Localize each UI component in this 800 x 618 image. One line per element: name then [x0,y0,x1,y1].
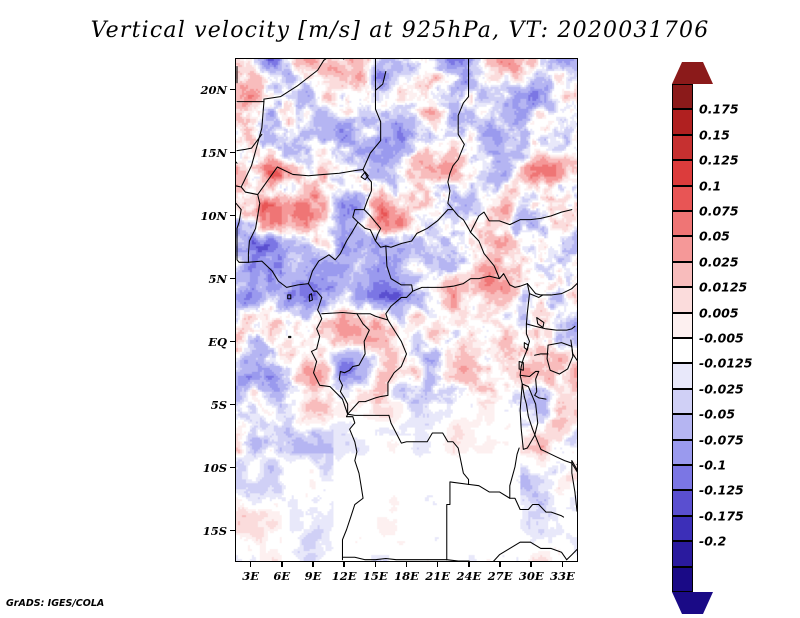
colorbar-segment-9 [672,313,693,338]
lat-tick-mark [230,278,235,280]
colorbar-segment-5 [672,211,693,236]
lat-tick-label-5N: 5N [197,272,227,286]
colorbar-segment-0 [672,84,693,109]
lat-tick-label-20N: 20N [197,83,227,97]
colorbar-segment-10 [672,338,693,363]
colorbar-segment-17 [672,516,693,541]
page-title: Vertical velocity [m/s] at 925hPa, VT: 2… [0,18,800,43]
lon-tick-label-27E: 27E [488,569,513,583]
lat-tick-label-15S: 15S [197,524,227,538]
colorbar-label-8: 0.005 [699,305,739,320]
lat-tick-mark [230,89,235,91]
colorbar-segment-16 [672,490,693,515]
colorbar-label-6: 0.025 [699,254,739,269]
lat-tick-label-EQ: EQ [197,335,227,349]
colorbar-segment-14 [672,440,693,465]
colorbar-label-10: -0.0125 [699,356,752,371]
lon-tick-label-15E: 15E [363,569,388,583]
lat-tick-mark [230,215,235,217]
colorbar-label-13: -0.075 [699,432,744,447]
colorbar-label-16: -0.175 [699,508,744,523]
colorbar-segment-6 [672,236,693,261]
colorbar-segment-13 [672,414,693,439]
colorbar-label-17: -0.2 [699,534,726,549]
lat-tick-label-5S: 5S [197,398,227,412]
lat-tick-mark [230,341,235,343]
colorbar-segment-15 [672,465,693,490]
colorbar-min-arrow [672,592,713,614]
colorbar-label-14: -0.1 [699,458,726,473]
lon-tick-mark [343,562,345,567]
lon-tick-mark [530,562,532,567]
colorbar-segment-18 [672,541,693,566]
lon-tick-label-12E: 12E [332,569,357,583]
lat-tick-mark [230,404,235,406]
colorbar-label-0: 0.175 [699,102,739,117]
lon-tick-label-18E: 18E [394,569,419,583]
lon-tick-mark [312,562,314,567]
lon-tick-mark [250,562,252,567]
colorbar-segment-12 [672,389,693,414]
map-plot-area [235,58,578,562]
colorbar-label-12: -0.05 [699,407,735,422]
colorbar-label-15: -0.125 [699,483,744,498]
colorbar-segment-8 [672,287,693,312]
colorbar-label-2: 0.125 [699,153,739,168]
lon-tick-mark [406,562,408,567]
lat-tick-mark [230,152,235,154]
colorbar-label-11: -0.025 [699,381,744,396]
colorbar-segment-7 [672,262,693,287]
colorbar-max-arrow [672,62,713,84]
colorbar-segment-4 [672,186,693,211]
colorbar-segment-3 [672,160,693,185]
footer-credit: GrADS: IGES/COLA [6,598,104,609]
lon-tick-mark [437,562,439,567]
vertical-velocity-field [236,59,577,561]
lon-tick-label-30E: 30E [519,569,544,583]
lon-tick-label-33E: 33E [550,569,575,583]
lat-tick-mark [230,530,235,532]
colorbar-label-4: 0.075 [699,204,739,219]
lon-tick-label-6E: 6E [273,569,290,583]
lat-tick-mark [230,467,235,469]
lat-tick-label-15N: 15N [197,146,227,160]
colorbar-segment-11 [672,363,693,388]
lon-tick-mark [499,562,501,567]
colorbar-segment-19 [672,567,693,592]
colorbar-label-1: 0.15 [699,127,730,142]
colorbar-label-9: -0.005 [699,331,744,346]
lon-tick-label-24E: 24E [456,569,481,583]
lon-tick-mark [562,562,564,567]
lon-tick-mark [375,562,377,567]
lat-tick-label-10N: 10N [197,209,227,223]
lon-tick-mark [468,562,470,567]
lon-tick-label-9E: 9E [305,569,322,583]
lon-tick-label-21E: 21E [425,569,450,583]
colorbar-label-5: 0.05 [699,229,730,244]
colorbar-label-3: 0.1 [699,178,721,193]
colorbar-segment-2 [672,135,693,160]
lon-tick-mark [281,562,283,567]
lon-tick-label-3E: 3E [242,569,259,583]
lat-tick-label-10S: 10S [197,461,227,475]
colorbar-segment-1 [672,109,693,134]
colorbar-label-7: 0.0125 [699,280,747,295]
